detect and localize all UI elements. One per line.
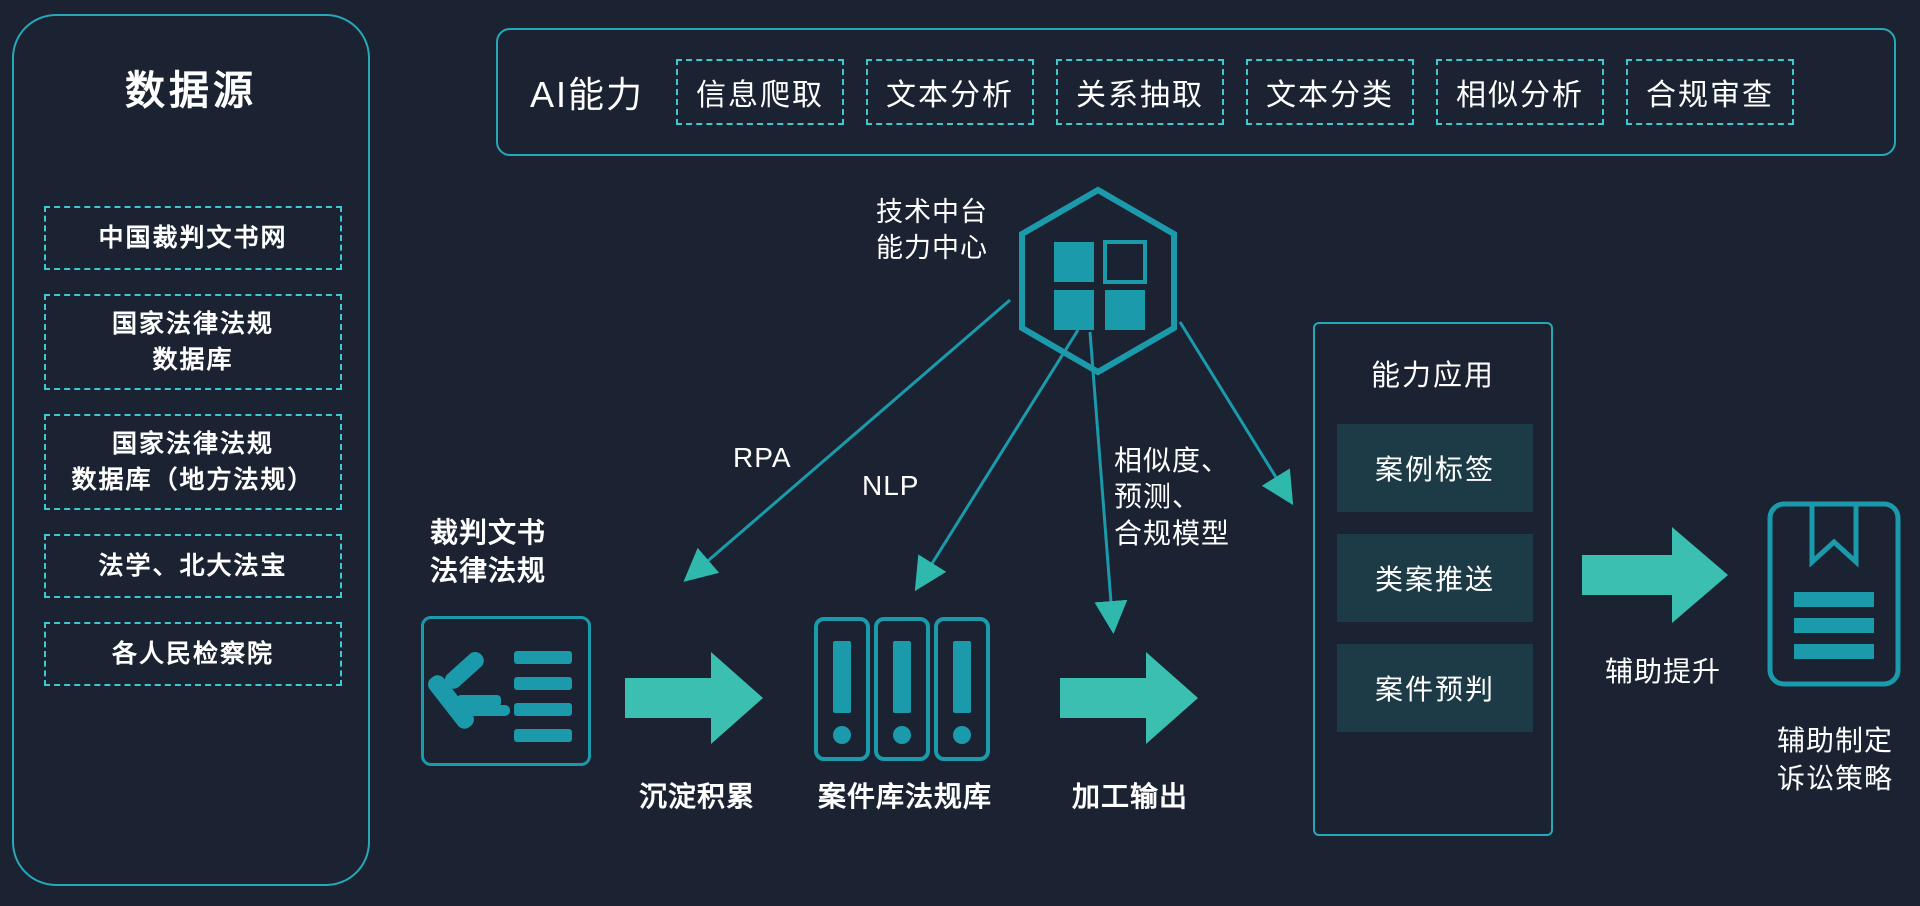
capability-item-2[interactable]: 案件预判 xyxy=(1337,644,1533,732)
ai-chip-3[interactable]: 文本分类 xyxy=(1246,59,1414,125)
arrow2-caption: 加工输出 xyxy=(1050,778,1210,816)
data-source-item-3[interactable]: 法学、北大法宝 xyxy=(44,534,342,598)
diagram-canvas: 数据源 中国裁判文书网 国家法律法规 数据库 国家法律法规 数据库（地方法规） … xyxy=(0,0,1920,906)
gavel-document-icon xyxy=(421,616,591,766)
result-caption: 辅助制定 诉讼策略 xyxy=(1740,722,1920,798)
bookmark-document-icon xyxy=(1766,500,1902,688)
data-source-item-label: 各人民检察院 xyxy=(112,636,274,672)
data-source-title: 数据源 xyxy=(14,58,368,116)
data-source-item-label: 国家法律法规 数据库 xyxy=(112,306,274,379)
ai-chip-0[interactable]: 信息爬取 xyxy=(676,59,844,125)
data-source-item-4[interactable]: 各人民检察院 xyxy=(44,622,342,686)
right-arrow-icon xyxy=(625,650,765,746)
data-source-item-label: 中国裁判文书网 xyxy=(98,220,287,256)
data-source-item-label: 国家法律法规 数据库（地方法规） xyxy=(71,426,314,499)
data-source-list: 中国裁判文书网 国家法律法规 数据库 国家法律法规 数据库（地方法规） 法学、北… xyxy=(44,206,342,710)
documents-title: 裁判文书 法律法规 xyxy=(420,514,630,590)
ai-chip-5[interactable]: 合规审查 xyxy=(1626,59,1794,125)
edge-process-line xyxy=(1090,332,1113,628)
tech-center-label: 技术中台 能力中心 xyxy=(838,194,988,267)
capability-item-0[interactable]: 案例标签 xyxy=(1337,424,1533,512)
capability-application-panel: 能力应用 案例标签 类案推送 案件预判 xyxy=(1313,322,1553,836)
ai-chip-4[interactable]: 相似分析 xyxy=(1436,59,1604,125)
edge-rpa-line xyxy=(688,300,1010,578)
hexagon-grid-icon xyxy=(1014,186,1182,376)
data-source-item-2[interactable]: 国家法律法规 数据库（地方法规） xyxy=(44,414,342,510)
documents-node: 裁判文书 法律法规 xyxy=(420,514,630,590)
arrow1-caption: 沉淀积累 xyxy=(617,778,777,816)
data-source-item-1[interactable]: 国家法律法规 数据库 xyxy=(44,294,342,390)
edge-label-rpa: RPA xyxy=(733,440,792,476)
database-caption: 案件库法规库 xyxy=(805,778,1005,816)
data-source-panel: 数据源 中国裁判文书网 国家法律法规 数据库 国家法律法规 数据库（地方法规） … xyxy=(12,14,370,886)
right-arrow-icon-2 xyxy=(1060,650,1200,746)
right-arrow-icon-3 xyxy=(1582,525,1730,625)
capability-application-list: 案例标签 类案推送 案件预判 xyxy=(1337,424,1533,754)
ai-chip-2[interactable]: 关系抽取 xyxy=(1056,59,1224,125)
result-arrow-caption: 辅助提升 xyxy=(1578,650,1748,690)
edge-label-nlp: NLP xyxy=(862,468,919,504)
capability-item-1[interactable]: 类案推送 xyxy=(1337,534,1533,622)
ai-chip-1[interactable]: 文本分析 xyxy=(866,59,1034,125)
data-source-item-0[interactable]: 中国裁判文书网 xyxy=(44,206,342,270)
capability-application-title: 能力应用 xyxy=(1315,352,1551,394)
data-source-item-label: 法学、北大法宝 xyxy=(98,548,287,584)
server-rack-icon xyxy=(812,615,992,763)
ai-capability-label: AI能力 xyxy=(530,66,644,118)
ai-capability-panel: AI能力 信息爬取 文本分析 关系抽取 文本分类 相似分析 合规审查 xyxy=(496,28,1896,156)
edge-label-similarity: 相似度、 预测、 合规模型 xyxy=(1114,443,1230,552)
